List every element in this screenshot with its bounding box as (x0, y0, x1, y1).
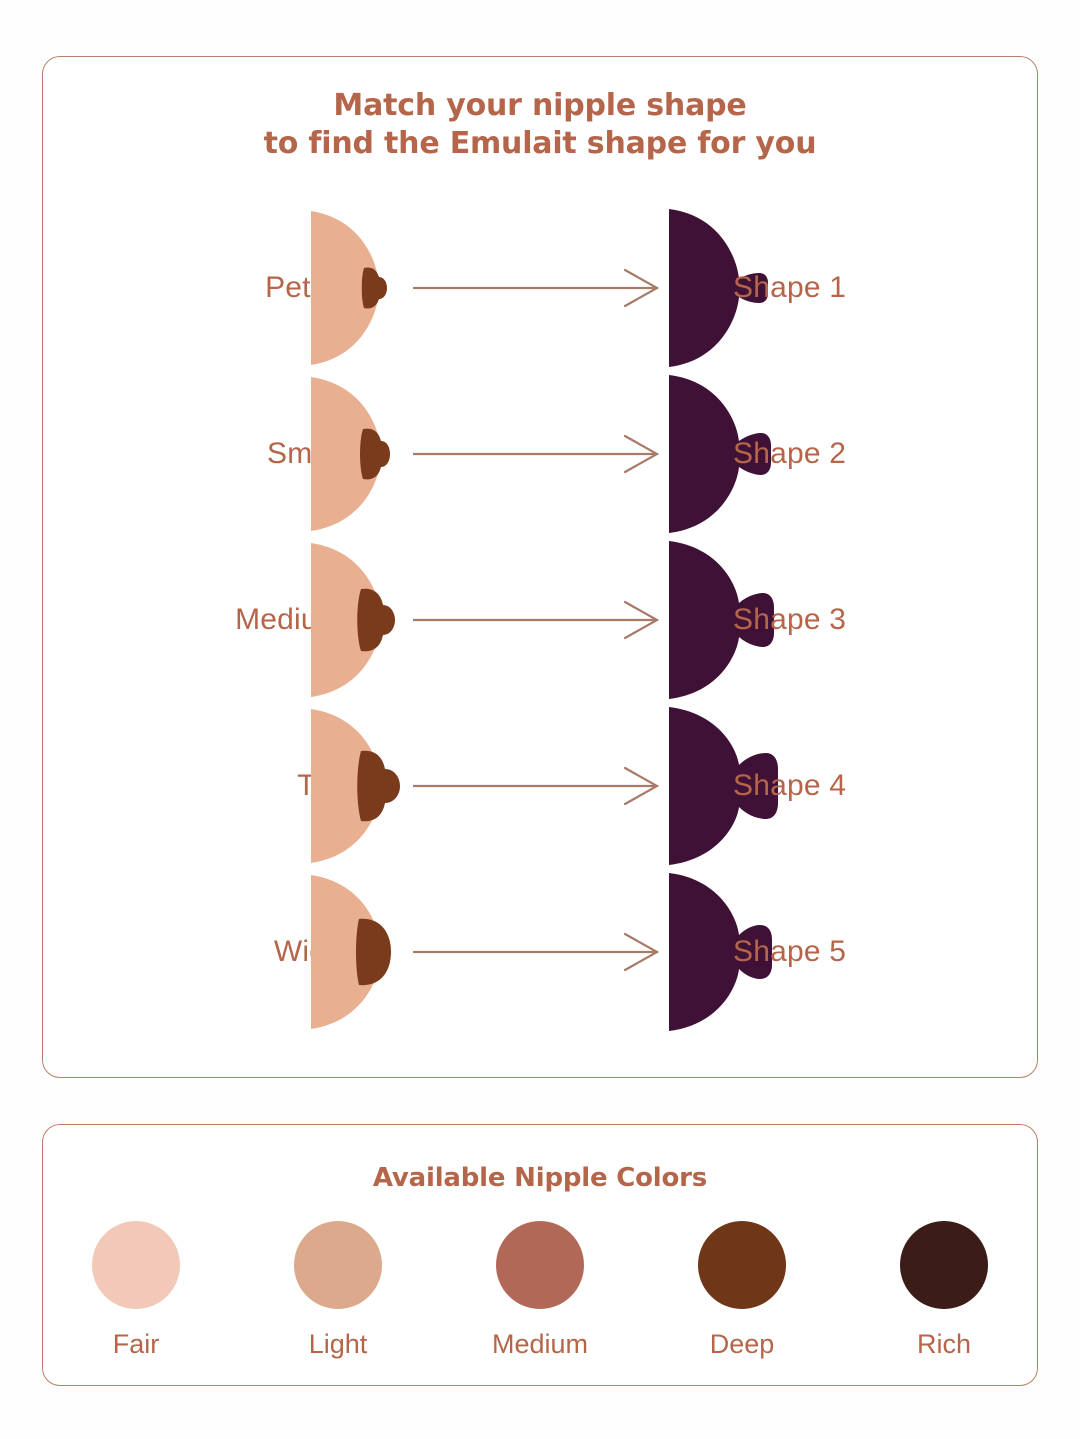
emulait-shape-label: Shape 1 (733, 271, 993, 305)
emulait-shape-label: Shape 5 (733, 935, 993, 969)
breast-silhouette-icon (301, 703, 421, 869)
color-swatch-fair[interactable]: Fair (90, 1221, 182, 1360)
color-swatch-medium[interactable]: Medium (494, 1221, 586, 1360)
colors-section-title: Available Nipple Colors (43, 1163, 1037, 1193)
arrow-right-icon (411, 434, 667, 474)
arrow-right-icon (411, 600, 667, 640)
arrow-right-icon (411, 268, 667, 308)
shape-match-card: Match your nipple shape to find the Emul… (42, 56, 1038, 1078)
available-colors-card: Available Nipple Colors Fair Light Mediu… (42, 1124, 1038, 1386)
page-title-line-2: to find the Emulait shape for you (43, 125, 1037, 163)
swatch-label: Rich (917, 1329, 971, 1360)
shape-row: Tall Sh (43, 703, 1037, 869)
shape-rows: Petite (43, 205, 1037, 1035)
swatch-label: Light (309, 1329, 368, 1360)
swatch-dot (496, 1221, 584, 1309)
page-title: Match your nipple shape to find the Emul… (43, 87, 1037, 164)
shape-row: Small S (43, 371, 1037, 537)
swatch-dot (698, 1221, 786, 1309)
emulait-shape-label: Shape 4 (733, 769, 993, 803)
color-swatch-rich[interactable]: Rich (898, 1221, 990, 1360)
color-swatch-light[interactable]: Light (292, 1221, 384, 1360)
arrow-right-icon (411, 766, 667, 806)
shape-row: Petite (43, 205, 1037, 371)
emulait-shape-label: Shape 2 (733, 437, 993, 471)
swatch-dot (92, 1221, 180, 1309)
shape-row: Medium (43, 537, 1037, 703)
breast-silhouette-icon (301, 537, 421, 703)
infographic-page: Match your nipple shape to find the Emul… (0, 0, 1080, 1439)
breast-silhouette-icon (301, 371, 421, 537)
color-swatch-deep[interactable]: Deep (696, 1221, 788, 1360)
swatch-label: Medium (492, 1329, 588, 1360)
page-title-line-1: Match your nipple shape (43, 87, 1037, 125)
breast-silhouette-icon (301, 205, 421, 371)
swatch-label: Fair (113, 1329, 160, 1360)
swatch-label: Deep (710, 1329, 775, 1360)
swatch-dot (294, 1221, 382, 1309)
shape-row: Wide Sh (43, 869, 1037, 1035)
breast-silhouette-icon (301, 869, 421, 1035)
emulait-shape-label: Shape 3 (733, 603, 993, 637)
swatch-dot (900, 1221, 988, 1309)
color-swatch-list: Fair Light Medium Deep Rich (43, 1221, 1037, 1360)
arrow-right-icon (411, 932, 667, 972)
